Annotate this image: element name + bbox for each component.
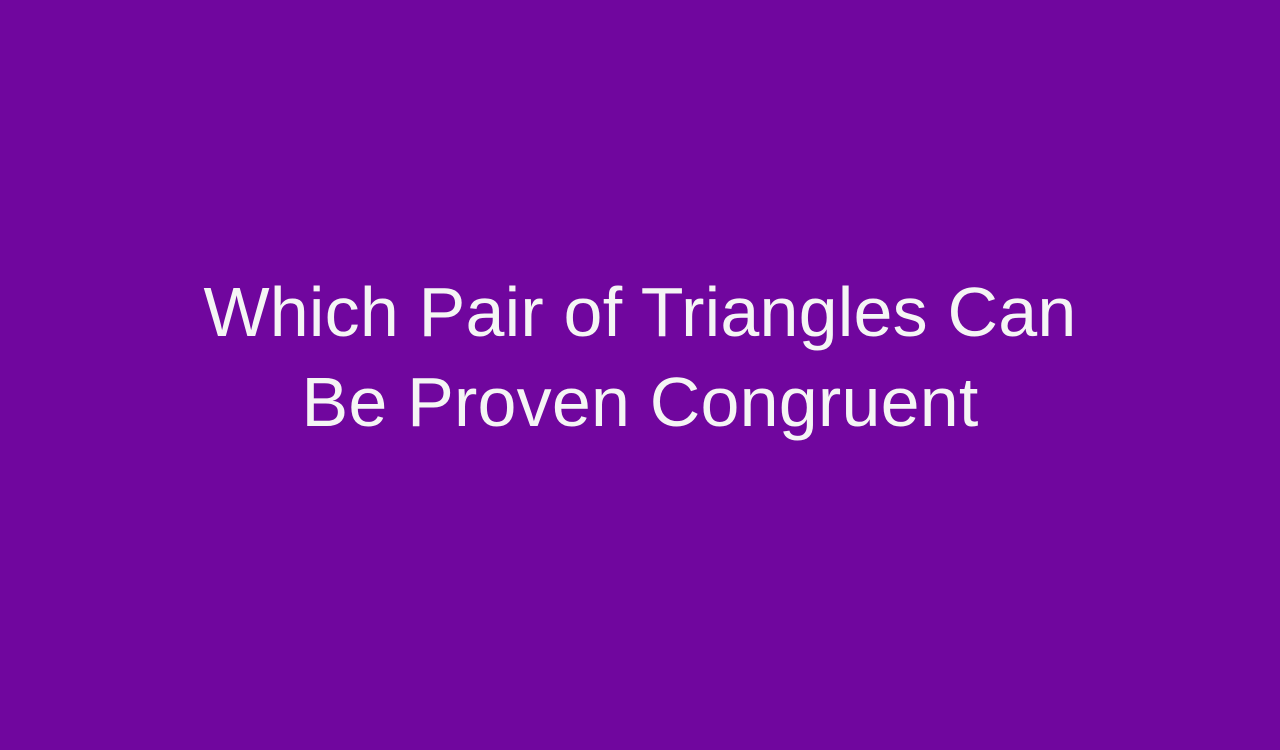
page-root: Which Pair of Triangles Can Be Proven Co… — [0, 0, 1280, 750]
page-title: Which Pair of Triangles Can Be Proven Co… — [160, 267, 1120, 447]
hero-section: Which Pair of Triangles Can Be Proven Co… — [0, 267, 1280, 447]
